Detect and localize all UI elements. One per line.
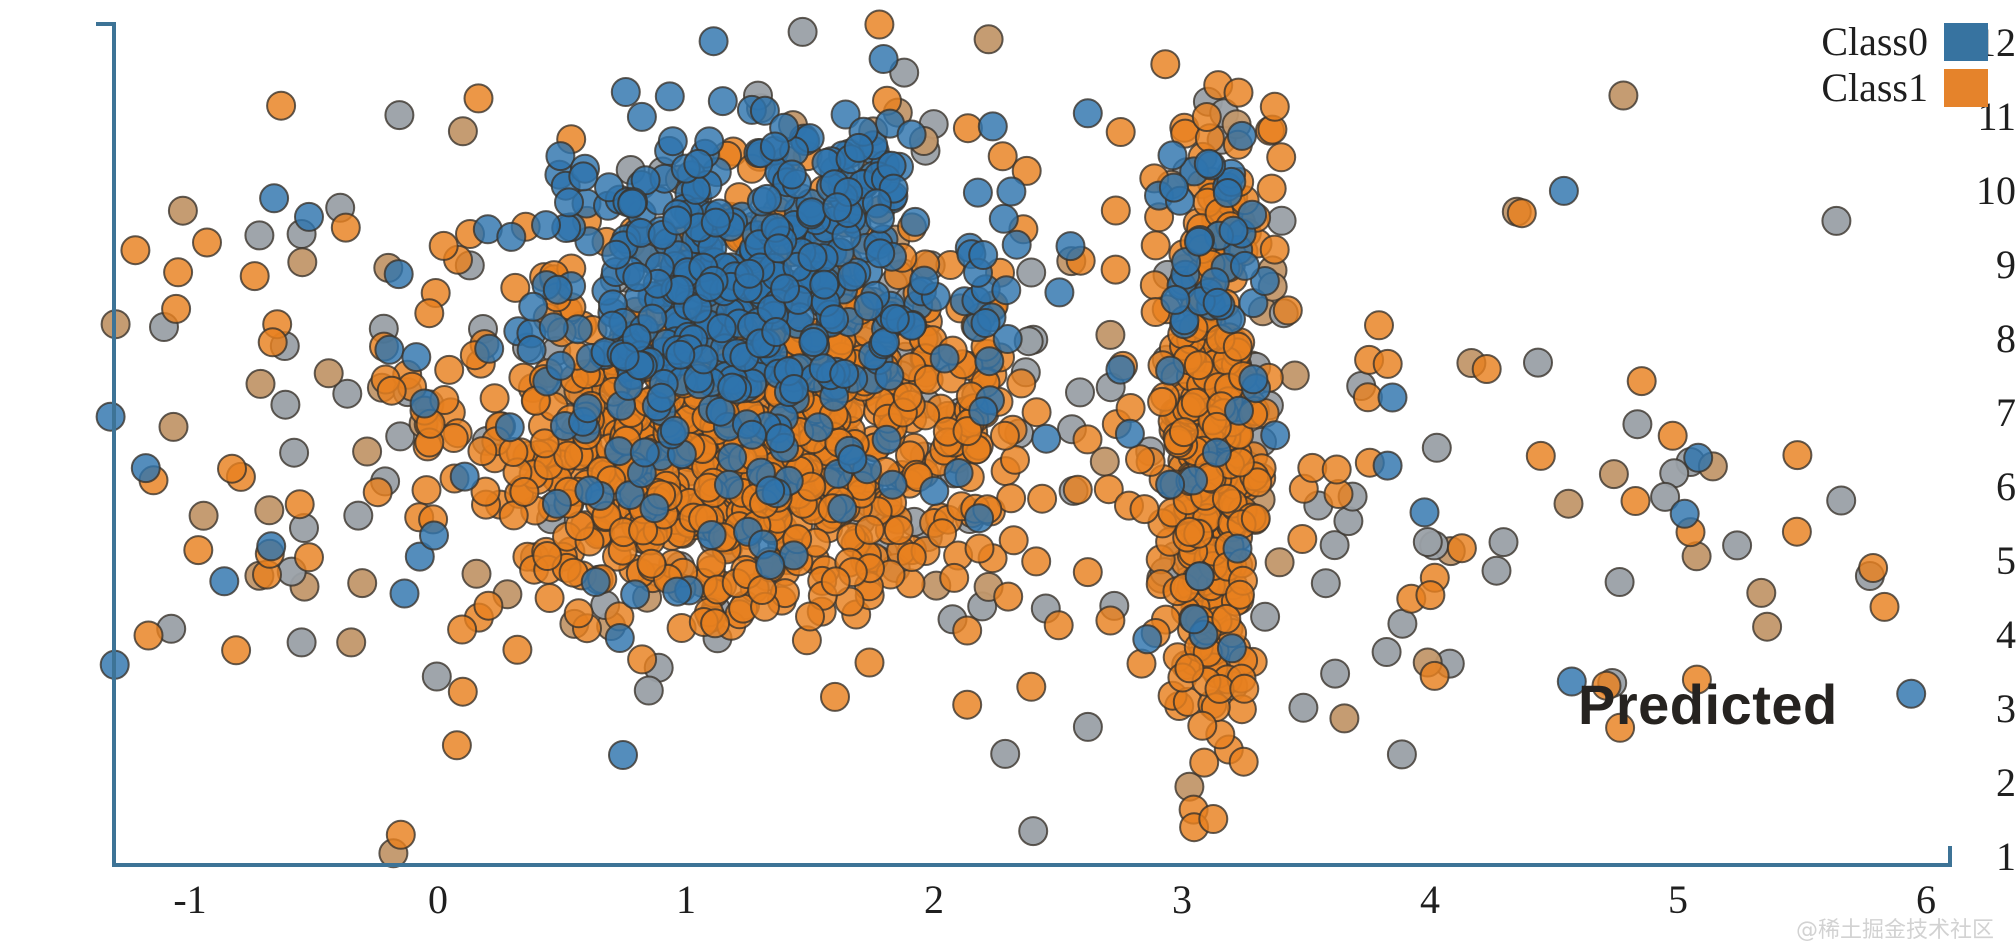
scatter-point: [990, 205, 1018, 233]
scatter-point: [162, 295, 190, 323]
scatter-point: [994, 583, 1022, 611]
scatter-point: [1017, 259, 1045, 287]
scatter-point: [1483, 557, 1511, 585]
scatter-point: [1182, 389, 1210, 417]
scatter-point: [931, 345, 959, 373]
scatter-point: [628, 103, 656, 131]
scatter-point: [635, 677, 663, 705]
scatter-point: [1180, 605, 1208, 633]
scatter-point: [1007, 369, 1035, 397]
scatter-point: [606, 624, 634, 652]
scatter-point: [1102, 256, 1130, 284]
scatter-point: [536, 584, 564, 612]
scatter-point: [1204, 289, 1232, 317]
scatter-point: [1783, 518, 1811, 546]
predicted-annotation: Predicted: [1578, 672, 1838, 737]
scatter-point: [387, 821, 415, 849]
scatter-point: [449, 117, 477, 145]
scatter-point: [190, 502, 218, 530]
scatter-point: [709, 87, 737, 115]
scatter-point: [1323, 456, 1351, 484]
scatter-point: [1473, 355, 1501, 383]
scatter-point: [375, 336, 403, 364]
scatter-point: [474, 592, 502, 620]
scatter-point: [856, 516, 884, 544]
scatter-point: [1827, 487, 1855, 515]
scatter-point: [385, 260, 413, 288]
scatter-point: [701, 609, 729, 637]
scatter-point: [1374, 350, 1402, 378]
scatter-point: [496, 413, 524, 441]
scatter-point: [247, 370, 275, 398]
x-tick-label: 2: [874, 880, 994, 920]
scatter-point: [1028, 485, 1056, 513]
scatter-point: [1266, 548, 1294, 576]
scatter-point: [1334, 507, 1362, 535]
scatter-point: [756, 477, 784, 505]
scatter-point: [1242, 505, 1270, 533]
scatter-point: [1185, 228, 1213, 256]
scatter-point: [1102, 197, 1130, 225]
scatter-point: [1230, 748, 1258, 776]
scatter-point: [718, 444, 746, 472]
scatter-point: [1421, 662, 1449, 690]
legend-label: Class0: [1821, 22, 1928, 62]
watermark-text: @稀土掘金技术社区: [1796, 912, 1994, 944]
scatter-point: [1000, 526, 1028, 554]
scatter-point: [420, 522, 448, 550]
scatter-point: [218, 455, 246, 483]
scatter-point: [979, 112, 1007, 140]
scatter-point: [771, 275, 799, 303]
scatter-point: [789, 18, 817, 46]
scatter-point: [865, 11, 893, 39]
x-tick-label: 1: [626, 880, 746, 920]
plot-area: [0, 0, 2016, 952]
y-tick-label: 6: [1924, 467, 2016, 507]
scatter-point: [510, 478, 538, 506]
scatter-point: [1022, 547, 1050, 575]
scatter-point: [385, 101, 413, 129]
scatter-point: [1524, 349, 1552, 377]
y-tick-label: 1: [1924, 837, 2016, 877]
scatter-point: [966, 535, 994, 563]
legend-label: Class1: [1821, 68, 1928, 108]
scatter-point: [602, 241, 630, 269]
scatter-point: [1128, 650, 1156, 678]
scatter-point: [1074, 99, 1102, 127]
scatter-point: [954, 114, 982, 142]
scatter-point: [1312, 569, 1340, 597]
scatter-point: [164, 258, 192, 286]
scatter-point: [435, 356, 463, 384]
scatter-point: [778, 161, 806, 189]
scatter-point: [193, 229, 221, 257]
scatter-point: [700, 27, 728, 55]
scatter-point: [184, 536, 212, 564]
scatter-point: [1508, 199, 1536, 227]
scatter-point: [1321, 660, 1349, 688]
scatter-point: [748, 576, 776, 604]
x-tick-label: 3: [1122, 880, 1242, 920]
scatter-point: [666, 341, 694, 369]
scatter-point: [1185, 351, 1213, 379]
scatter-point: [1365, 311, 1393, 339]
scatter-point: [295, 203, 323, 231]
scatter-point: [1156, 471, 1184, 499]
scatter-point: [838, 445, 866, 473]
y-tick-label: 8: [1924, 319, 2016, 359]
scatter-point: [940, 564, 968, 592]
scatter-point: [1199, 805, 1227, 833]
scatter-point: [975, 347, 1003, 375]
scatter-point: [1609, 82, 1637, 110]
scatter-point: [1066, 378, 1094, 406]
scatter-point: [799, 328, 827, 356]
scatter-point: [1170, 418, 1198, 446]
scatter-point: [1600, 460, 1628, 488]
scatter-point: [1606, 568, 1634, 596]
scatter-point: [1373, 638, 1401, 666]
scatter-point: [222, 636, 250, 664]
scatter-point: [920, 477, 948, 505]
scatter-point: [1723, 531, 1751, 559]
scatter-point: [953, 691, 981, 719]
scatter-point: [828, 495, 856, 523]
scatter-point: [288, 628, 316, 656]
scatter-point: [1224, 333, 1252, 361]
scatter-point: [1003, 231, 1031, 259]
scatter-point: [780, 375, 808, 403]
scatter-point: [1193, 103, 1221, 131]
scatter-canvas: [0, 0, 2016, 952]
scatter-point: [546, 142, 574, 170]
scatter-point: [364, 478, 392, 506]
scatter-point: [260, 184, 288, 212]
scatter-point: [295, 543, 323, 571]
scatter-point: [569, 162, 597, 190]
scatter-point: [555, 188, 583, 216]
scatter-point: [1160, 174, 1188, 202]
scatter-point: [969, 241, 997, 269]
scatter-point: [1074, 558, 1102, 586]
scatter-point: [574, 394, 602, 422]
scatter-point: [257, 532, 285, 560]
scatter-point: [1388, 740, 1416, 768]
scatter-point: [1251, 603, 1279, 631]
scatter-point: [1057, 232, 1085, 260]
scatter-point: [1411, 498, 1439, 526]
scatter-point: [1550, 177, 1578, 205]
scatter-point: [415, 299, 443, 327]
scatter-point: [1281, 362, 1309, 390]
scatter-point: [898, 543, 926, 571]
scatter-point: [543, 490, 571, 518]
scatter-point: [1148, 388, 1176, 416]
scatter-point: [1379, 384, 1407, 412]
scatter-point: [1096, 321, 1124, 349]
scatter-point: [1224, 535, 1252, 563]
scatter-point: [659, 127, 687, 155]
scatter-point: [1684, 444, 1712, 472]
scatter-point: [715, 471, 743, 499]
scatter-point: [612, 78, 640, 106]
scatter-point: [991, 422, 1019, 450]
scatter-point: [697, 549, 725, 577]
scatter-point: [810, 271, 838, 299]
scatter-point: [1190, 749, 1218, 777]
scatter-point: [423, 663, 451, 691]
scatter-point: [582, 568, 610, 596]
scatter-point: [533, 542, 561, 570]
legend[interactable]: Class0Class1: [1821, 22, 1988, 108]
scatter-point: [540, 313, 568, 341]
scatter-point: [1045, 611, 1073, 639]
legend-item-class0[interactable]: Class0: [1821, 22, 1988, 62]
scatter-point: [1175, 654, 1203, 682]
scatter-point: [1897, 680, 1925, 708]
scatter-point: [210, 567, 238, 595]
scatter-point: [1555, 490, 1583, 518]
scatter-point: [830, 360, 858, 388]
scatter-point: [1117, 394, 1145, 422]
scatter-point: [866, 205, 894, 233]
scatter-point: [1133, 625, 1161, 653]
scatter-point: [451, 463, 479, 491]
x-tick-label: 0: [378, 880, 498, 920]
scatter-point: [132, 454, 160, 482]
scatter-point: [621, 580, 649, 608]
scatter-point: [1239, 365, 1267, 393]
scatter-point: [1822, 207, 1850, 235]
scatter-point: [1416, 581, 1444, 609]
scatter-point: [611, 343, 639, 371]
y-tick-label: 5: [1924, 541, 2016, 581]
scatter-point: [413, 476, 441, 504]
scatter-point: [1274, 296, 1302, 324]
scatter-point: [945, 459, 973, 487]
scatter-point: [1074, 425, 1102, 453]
scatter-point: [910, 267, 938, 295]
scatter-point: [518, 336, 546, 364]
scatter-point: [1226, 581, 1254, 609]
scatter-point: [798, 198, 826, 226]
scatter-point: [1330, 704, 1358, 732]
scatter-point: [241, 262, 269, 290]
scatter-point: [267, 92, 295, 120]
scatter-point: [1228, 122, 1256, 150]
legend-color-swatch: [1944, 69, 1988, 107]
scatter-point: [449, 678, 477, 706]
scatter-point: [1623, 410, 1651, 438]
scatter-point: [684, 150, 712, 178]
scatter-point: [997, 178, 1025, 206]
scatter-point: [1388, 610, 1416, 638]
scatter-point: [738, 421, 766, 449]
scatter-point: [97, 403, 125, 431]
scatter-point: [1859, 554, 1887, 582]
scatter-point: [1186, 562, 1214, 590]
scatter-point: [1622, 487, 1650, 515]
scatter-point: [1019, 817, 1047, 845]
scatter-point: [656, 82, 684, 110]
scatter-point: [575, 477, 603, 505]
scatter-point: [991, 740, 1019, 768]
scatter-point: [1871, 593, 1899, 621]
scatter-point: [497, 223, 525, 251]
scatter-point: [332, 214, 360, 242]
scatter-point: [702, 209, 730, 237]
scatter-point: [1374, 452, 1402, 480]
scatter-point: [271, 391, 299, 419]
scatter-point: [255, 496, 283, 524]
scatter-point: [121, 236, 149, 264]
scatter-point: [1267, 143, 1295, 171]
scatter-point: [1230, 675, 1258, 703]
scatter-point: [765, 234, 793, 262]
scatter-point: [631, 439, 659, 467]
scatter-point: [463, 560, 491, 588]
y-tick-label: 9: [1924, 245, 2016, 285]
scatter-point: [640, 494, 668, 522]
scatter-point: [411, 390, 439, 418]
scatter-point: [1213, 485, 1241, 513]
scatter-point: [708, 314, 736, 342]
scatter-point: [1231, 252, 1259, 280]
scatter-point: [443, 731, 471, 759]
scatter-point: [805, 413, 833, 441]
scatter-point: [503, 636, 531, 664]
scatter-plot-figure: 123456789101112 -10123456 Class0Class1 P…: [0, 0, 2016, 952]
scatter-point: [845, 134, 873, 162]
scatter-point: [838, 263, 866, 291]
scatter-point: [1288, 525, 1316, 553]
scatter-point: [870, 45, 898, 73]
scatter-point: [969, 397, 997, 425]
scatter-point: [1261, 421, 1289, 449]
scatter-point: [1261, 93, 1289, 121]
scatter-point: [718, 374, 746, 402]
scatter-point: [953, 617, 981, 645]
scatter-point: [1023, 398, 1051, 426]
scatter-point: [975, 25, 1003, 53]
scatter-point: [766, 424, 794, 452]
scatter-point: [1096, 607, 1124, 635]
scatter-point: [1671, 500, 1699, 528]
scatter-point: [468, 437, 496, 465]
scatter-point: [1107, 118, 1135, 146]
scatter-point: [753, 185, 781, 213]
scatter-point: [1161, 286, 1189, 314]
scatter-point: [402, 343, 430, 371]
scatter-point: [430, 232, 458, 260]
y-tick-label: 4: [1924, 615, 2016, 655]
scatter-point: [448, 616, 476, 644]
scatter-point: [160, 413, 188, 441]
scatter-point: [756, 551, 784, 579]
scatter-point: [378, 377, 406, 405]
scatter-point: [1074, 713, 1102, 741]
scatter-point: [1659, 422, 1687, 450]
scatter-point: [647, 384, 675, 412]
legend-color-swatch: [1944, 23, 1988, 61]
scatter-point: [1045, 278, 1073, 306]
scatter-point: [1206, 675, 1234, 703]
scatter-point: [856, 649, 884, 677]
scatter-point: [618, 190, 646, 218]
scatter-point: [353, 438, 381, 466]
scatter-point: [245, 221, 273, 249]
scatter-point: [901, 208, 929, 236]
scatter-point: [1032, 425, 1060, 453]
scatter-point: [1220, 217, 1248, 245]
scatter-point: [1753, 613, 1781, 641]
scatter-point: [885, 516, 913, 544]
scatter-point: [1261, 236, 1289, 264]
scatter-point: [873, 426, 901, 454]
y-axis-top-tick: [96, 22, 114, 26]
scatter-point: [1628, 367, 1656, 395]
scatter-point: [1448, 534, 1476, 562]
scatter-point: [286, 490, 314, 518]
scatter-point: [821, 683, 849, 711]
scatter-point: [1490, 528, 1518, 556]
scatter-point: [280, 439, 308, 467]
scatter-point: [637, 550, 665, 578]
scatter-point: [1225, 79, 1253, 107]
scatter-point: [623, 263, 651, 291]
scatter-point: [663, 578, 691, 606]
scatter-point: [1017, 673, 1045, 701]
scatter-point: [1176, 518, 1204, 546]
scatter-point: [135, 622, 163, 650]
scatter-point: [605, 437, 633, 465]
scatter-point: [1064, 476, 1092, 504]
scatter-point: [695, 273, 723, 301]
scatter-point: [1423, 434, 1451, 462]
scatter-point: [1289, 694, 1317, 722]
scatter-point: [1131, 495, 1159, 523]
scatter-point: [964, 179, 992, 207]
scatter-point: [475, 335, 503, 363]
scatter-point: [855, 292, 883, 320]
scatter-point: [344, 502, 372, 530]
scatter-point: [1159, 141, 1187, 169]
scatter-point: [519, 293, 547, 321]
scatter-point: [169, 197, 197, 225]
scatter-point: [762, 318, 790, 346]
scatter-point: [288, 248, 316, 276]
scatter-point: [391, 580, 419, 608]
scatter-point: [1116, 420, 1144, 448]
x-tick-label: 5: [1618, 880, 1738, 920]
scatter-point: [1151, 50, 1179, 78]
scatter-point: [1195, 150, 1223, 178]
scatter-point: [965, 504, 993, 532]
scatter-point: [698, 521, 726, 549]
scatter-point: [259, 328, 287, 356]
x-axis-line: [112, 863, 1952, 867]
scatter-point: [796, 603, 824, 631]
scatter-point: [661, 417, 689, 445]
legend-item-class1[interactable]: Class1: [1821, 68, 1988, 108]
scatter-point: [822, 567, 850, 595]
scatter-point: [992, 276, 1020, 304]
y-axis-line: [112, 22, 116, 867]
scatter-point: [465, 84, 493, 112]
y-tick-label: 2: [1924, 763, 2016, 803]
scatter-point: [972, 309, 1000, 337]
